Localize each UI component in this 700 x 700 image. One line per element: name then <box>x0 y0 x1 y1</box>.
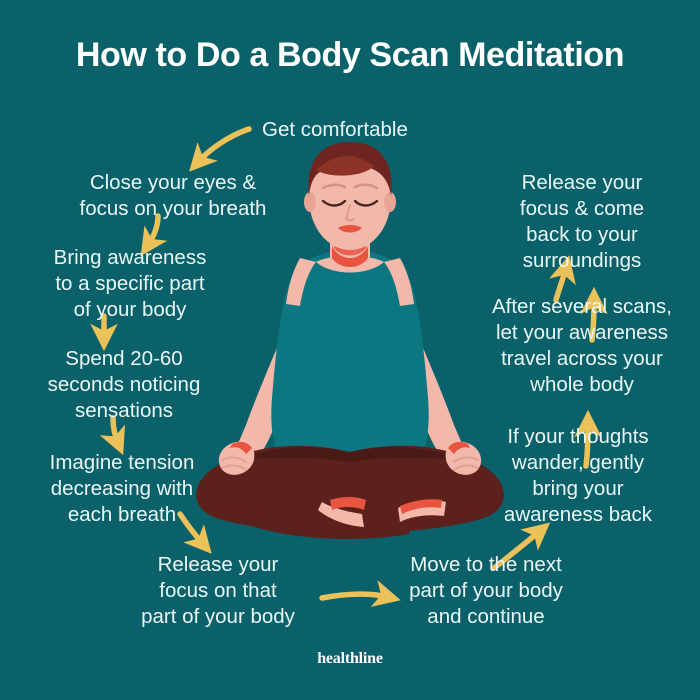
step-bring-awareness: Bring awareness to a specific part of yo… <box>20 245 240 323</box>
step-after-several-scans: After several scans, let your awareness … <box>474 294 690 398</box>
step-spend-seconds: Spend 20-60 seconds noticing sensations <box>18 346 230 424</box>
step-thoughts-wander: If your thoughts wander, gently bring yo… <box>478 424 678 528</box>
step-get-comfortable: Get comfortable <box>262 117 452 143</box>
step-move-to-next-part: Move to the next part of your body and c… <box>386 552 586 630</box>
step-close-eyes: Close your eyes & focus on your breath <box>40 170 306 222</box>
step-release-focus: Release your focus on that part of your … <box>118 552 318 630</box>
step-imagine-tension: Imagine tension decreasing with each bre… <box>14 450 230 528</box>
infographic-canvas: How to Do a Body Scan Meditation <box>0 0 700 700</box>
healthline-logo: healthline <box>0 650 700 668</box>
step-release-focus-surroundings: Release your focus & come back to your s… <box>484 170 680 274</box>
